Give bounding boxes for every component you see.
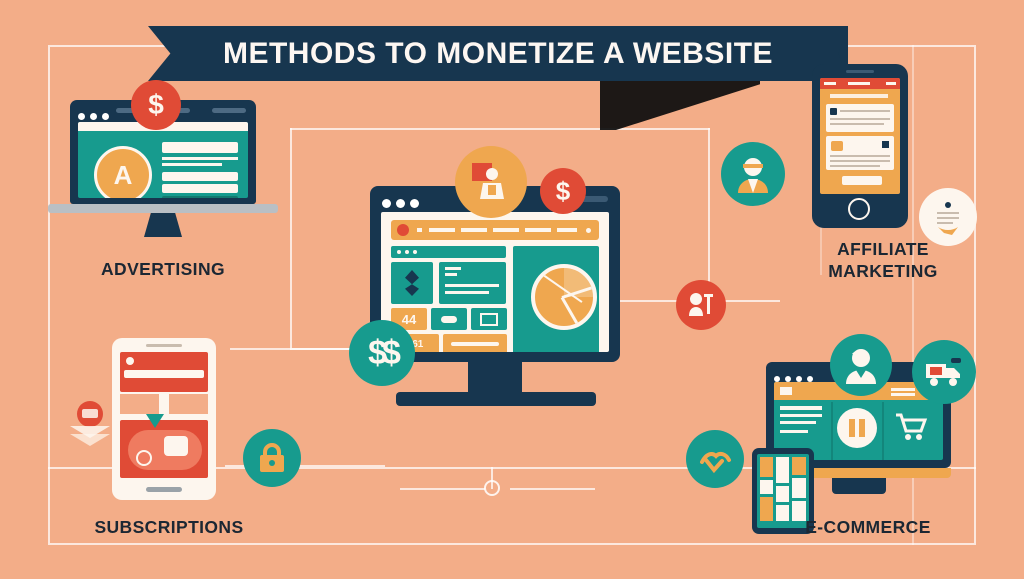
subscription-header-card	[120, 352, 208, 392]
delivery-truck-icon	[912, 340, 976, 404]
browser-menu	[212, 108, 246, 113]
caption-advertising: ADVERTISING	[48, 258, 278, 280]
caption-subscriptions: SUBSCRIPTIONS	[48, 516, 290, 538]
caption-affiliate-marketing: AFFILIATE MARKETING	[790, 238, 976, 283]
ad-line-2	[162, 163, 222, 166]
person-avatar-glyph-2	[840, 344, 882, 386]
delivery-truck-glyph	[923, 354, 965, 390]
letter-a-coin-icon: A	[94, 146, 152, 198]
caption-affiliate-line1: AFFILIATE	[790, 238, 976, 260]
person-avatar-icon-ecommerce	[830, 334, 892, 396]
center-tabbar	[391, 246, 506, 258]
affiliate-appbar	[820, 78, 900, 89]
connector-line-left-vertical	[290, 128, 292, 348]
connector-node-line-right	[510, 488, 595, 490]
handshake-icon	[686, 430, 744, 488]
award-ribbon-glyph	[62, 396, 118, 452]
center-logo-icon	[397, 224, 409, 236]
connector-line-top	[290, 128, 710, 130]
ad-headline	[162, 142, 238, 153]
page-title: METHODS TO MONETIZE A WEBSITE	[148, 26, 848, 81]
shopping-cart-glyph	[894, 412, 928, 442]
analytics-person-icon	[676, 280, 726, 330]
affiliate-card-2[interactable]	[826, 136, 894, 170]
affiliate-subtitle	[830, 94, 888, 98]
ad-input-2[interactable]	[162, 184, 238, 193]
advertising-screen: A	[78, 122, 248, 198]
connector-node	[484, 480, 500, 496]
affiliate-cta-button[interactable]	[842, 176, 882, 185]
center-stat-tile-2	[431, 308, 467, 330]
infographic-canvas: METHODS TO MONETIZE A WEBSITE A $	[0, 0, 1024, 579]
caption-ecommerce: E-COMMERCE	[760, 516, 976, 538]
presenter-board-glyph	[468, 159, 514, 205]
center-monitor-foot	[396, 392, 596, 406]
shopping-cart-icon	[894, 412, 928, 447]
center-screen: 44 461	[381, 212, 609, 352]
dollar-coin-icon-advertising: $	[131, 80, 181, 130]
monitor-base-bar	[48, 204, 278, 213]
monitor-stand	[144, 213, 182, 237]
center-chart-panel	[513, 246, 599, 352]
padlock-glyph	[254, 440, 290, 476]
subscription-media-card	[120, 420, 208, 478]
speech-bubble-glyph	[928, 197, 968, 237]
analytics-person-glyph	[684, 288, 718, 322]
tablet-home-button[interactable]	[848, 198, 870, 220]
center-widget-shape	[391, 262, 433, 304]
caption-affiliate-line2: MARKETING	[790, 260, 976, 282]
presenter-board-icon	[455, 146, 527, 218]
ad-input-1[interactable]	[162, 172, 238, 181]
ad-line-1	[162, 157, 238, 160]
phone-home-indicator[interactable]	[146, 487, 182, 492]
center-stat-tile-3	[471, 308, 507, 330]
handshake-glyph	[696, 440, 734, 478]
tablet-speaker	[846, 70, 874, 73]
pause-coin-icon	[837, 408, 877, 448]
affiliate-screen	[820, 78, 900, 194]
center-navbar[interactable]	[391, 220, 599, 240]
award-ribbon-icon	[62, 396, 118, 452]
dollar-coin-icon-center: $	[540, 168, 586, 214]
subscription-tile-left[interactable]	[120, 394, 159, 414]
affiliate-card-1[interactable]	[826, 104, 894, 132]
center-dots-row	[443, 334, 507, 352]
person-avatar-glyph	[732, 153, 774, 195]
ecommerce-monitor-stand	[832, 478, 886, 494]
center-window-dots	[382, 195, 424, 213]
title-banner: METHODS TO MONETIZE A WEBSITE	[148, 26, 848, 81]
center-text-block	[439, 262, 506, 304]
subscription-tile-right[interactable]	[169, 394, 208, 414]
phone-speaker	[146, 344, 182, 347]
dollar-stack-icon: $$	[349, 320, 415, 386]
ad-submit-button[interactable]	[162, 196, 238, 198]
connector-node-line-left	[400, 488, 485, 490]
padlock-icon	[243, 429, 301, 487]
subscriptions-phone	[112, 338, 216, 500]
person-avatar-icon-affiliate	[721, 142, 785, 206]
affiliate-tablet	[812, 64, 908, 228]
pie-chart	[531, 264, 597, 330]
